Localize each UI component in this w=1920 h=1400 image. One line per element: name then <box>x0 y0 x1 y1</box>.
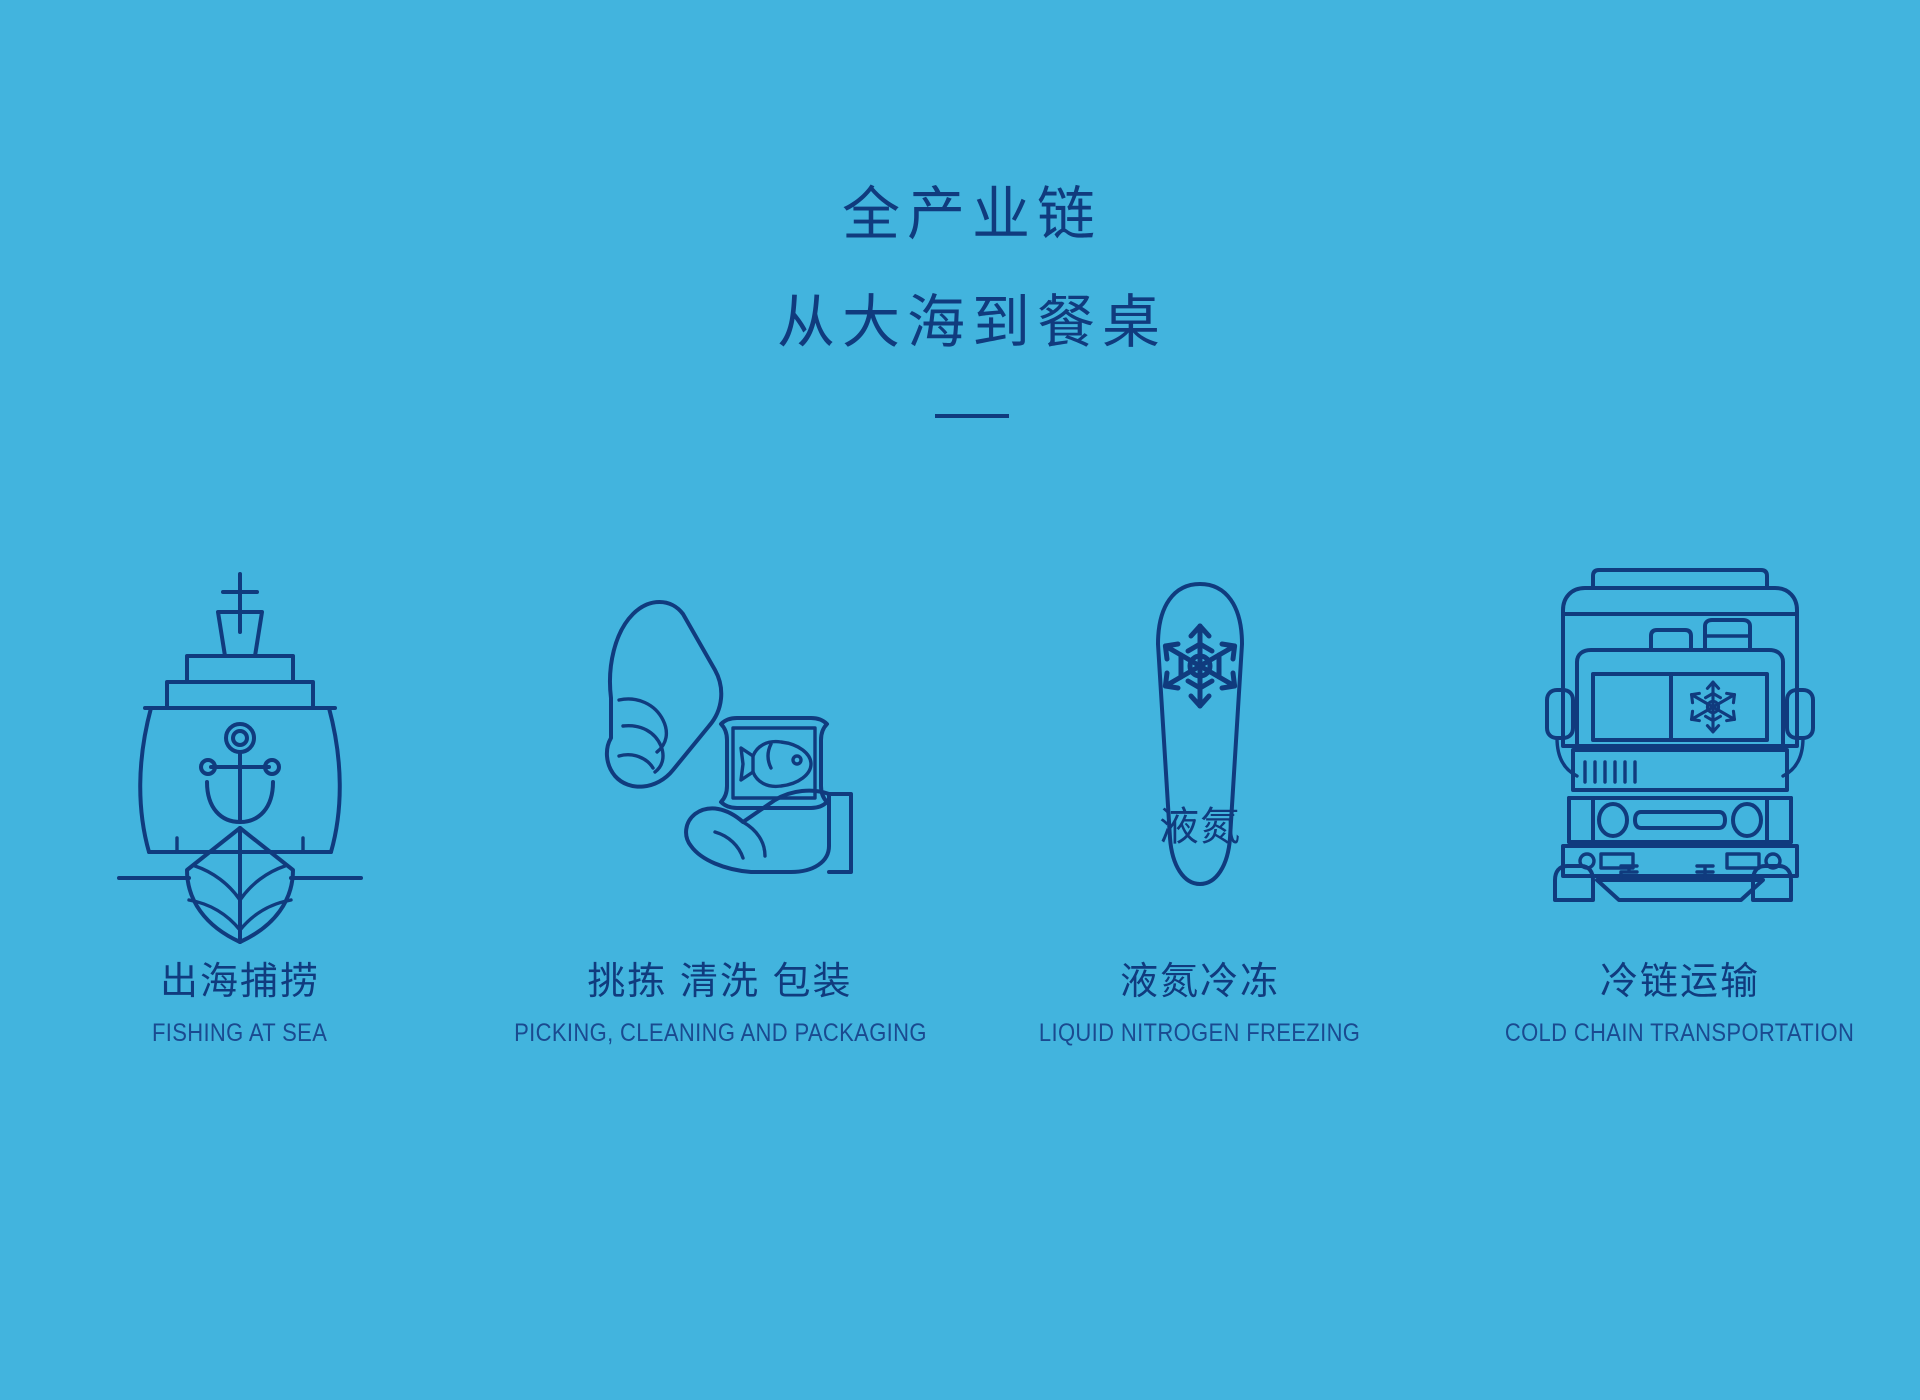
icon-box <box>575 530 865 900</box>
icon-box: 液氮 <box>1120 530 1280 900</box>
step-picking-cleaning-packaging[interactable]: 挑拣 清洗 包装 PICKING, CLEANING AND PACKAGING <box>480 530 960 1047</box>
page-title-line-1: 全产业链 <box>24 186 1920 244</box>
process-steps: 出海捕捞 FISHING AT SEA <box>0 530 1920 1047</box>
step-labels: 冷链运输 COLD CHAIN TRANSPORTATION <box>1481 962 1878 1047</box>
snowflake-icon <box>1692 682 1735 732</box>
divider-wrap <box>0 414 1920 418</box>
step-cold-chain-transportation[interactable]: 冷链运输 COLD CHAIN TRANSPORTATION <box>1440 530 1920 1047</box>
step-label-cn: 冷链运输 <box>1481 962 1878 1004</box>
step-label-cn: 出海捕捞 <box>140 962 339 1004</box>
step-label-en: FISHING AT SEA <box>152 1020 327 1048</box>
icon-box <box>115 530 365 900</box>
fishing-boat-icon <box>115 570 365 900</box>
step-label-en: PICKING, CLEANING AND PACKAGING <box>514 1020 927 1048</box>
step-label-en: LIQUID NITROGEN FREEZING <box>1039 1020 1360 1048</box>
page-title-line-2: 从大海到餐桌 <box>24 294 1920 352</box>
step-label-en: COLD CHAIN TRANSPORTATION <box>1505 1020 1854 1048</box>
icon-box <box>1545 530 1815 900</box>
infographic-stage: 全产业链 从大海到餐桌 <box>0 0 1920 1400</box>
step-fishing-at-sea[interactable]: 出海捕捞 FISHING AT SEA <box>0 530 480 1047</box>
step-label-cn: 挑拣 清洗 包装 <box>486 962 955 1004</box>
nitrogen-icon-text: 液氮 <box>1159 805 1241 849</box>
step-labels: 液氮冷冻 LIQUID NITROGEN FREEZING <box>1017 962 1382 1047</box>
snowflake-icon <box>1165 626 1234 706</box>
hands-with-fish-package-icon <box>575 570 865 900</box>
title-divider <box>935 414 1009 418</box>
refrigerated-truck-icon <box>1545 570 1815 900</box>
step-liquid-nitrogen-freezing[interactable]: 液氮 液氮冷冻 LIQUID NITROGEN FREEZING <box>960 530 1440 1047</box>
step-labels: 挑拣 清洗 包装 PICKING, CLEANING AND PACKAGING <box>486 962 955 1047</box>
nitrogen-dewar-icon: 液氮 <box>1120 570 1280 900</box>
step-labels: 出海捕捞 FISHING AT SEA <box>140 962 339 1047</box>
step-label-cn: 液氮冷冻 <box>1017 962 1382 1004</box>
heading-block: 全产业链 从大海到餐桌 <box>0 186 1920 418</box>
